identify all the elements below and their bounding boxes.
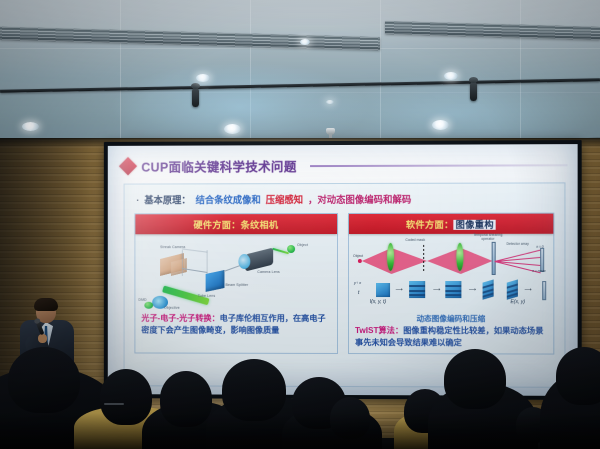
label-dmd: DMD [138, 298, 146, 302]
bullet-part1: 结合条纹成像和 [196, 192, 261, 206]
audience-glasses-icon [104, 403, 124, 405]
audience-head-1 [8, 347, 80, 413]
foreground-shadow [0, 413, 600, 449]
arrow-1-icon: ⟶ [395, 288, 402, 293]
shearing-operator-icon [492, 242, 496, 275]
panel-software-header: 软件方面：图像重构 [349, 214, 553, 234]
photo-scene: 热烈欢迎各位专家莅临指导 CUP面临关键科学技术问题 · 基本原理： 结合条纹成… [0, 0, 600, 449]
label-coded-mask: Coded mask [405, 238, 425, 242]
downlight-1 [196, 74, 210, 82]
sprinkler-head [326, 128, 335, 135]
formula-n0: n = 0 [536, 245, 543, 249]
slide-title: CUP面临关键科学技术问题 [141, 156, 296, 175]
spotlight-2 [470, 82, 477, 101]
label-object: Object [297, 243, 308, 247]
bullet-part2: ，对动态图像编码和解码 [308, 192, 411, 206]
audience-head-10 [556, 347, 600, 405]
formula-ixyt: I(x, y, t) [370, 299, 386, 305]
final-image-plate-icon [542, 281, 546, 300]
label-beam-splitter: Beam Splitter [225, 283, 248, 287]
sheared-cube-1-icon [483, 279, 494, 299]
camera-lens-face-icon [238, 254, 250, 269]
spotlight-1 [192, 88, 199, 107]
arrow-3-icon: ⟶ [469, 288, 476, 293]
figure-reconstruction-pipeline: Object Coded mask Temporal shearing oper… [352, 236, 550, 312]
downlight-7 [326, 100, 334, 104]
label-objective: Objective [164, 306, 180, 310]
coded-mask-icon [423, 245, 424, 271]
panel-hardware-header-main: 条纹相机 [241, 220, 279, 230]
diamond-bullet-icon [119, 157, 137, 175]
panel-row: 硬件方面：条纹相机 [132, 213, 556, 355]
arrow-4-icon: ⟶ [524, 288, 531, 293]
slide-title-row: CUP面临关键科学技术问题 [122, 155, 568, 175]
title-underline [310, 164, 568, 167]
sheared-cube-2-icon [506, 279, 517, 299]
software-caption-key: TwIST算法： [355, 326, 403, 335]
panel-software-header-main: 图像重构 [454, 220, 496, 230]
panel-hardware-header: 硬件方面：条纹相机 [135, 214, 337, 234]
downlight-2 [444, 72, 458, 80]
label-streak-camera: Streak Camera [160, 245, 185, 249]
formula-exy: E(x, y) [510, 299, 525, 305]
label-shearing-operator: Temporal shearing operator [467, 234, 509, 242]
datacube-2-icon [409, 281, 425, 298]
formula-nmax: n = nmax [532, 269, 545, 273]
panel-software-header-prefix: 软件方面： [406, 220, 454, 230]
formula-axes: y↑ x [354, 280, 361, 285]
label-object-r: Object [353, 254, 363, 258]
optical-path-svg [352, 240, 550, 282]
label-detector-array: Detector array [506, 242, 528, 246]
panel-hardware-header-prefix: 硬件方面： [194, 220, 241, 230]
audience [0, 339, 600, 449]
downlight-3 [22, 122, 39, 131]
downlight-6 [300, 39, 310, 45]
presenter-hair [34, 298, 58, 311]
slide-bullet: · 基本原理： 结合条纹成像和 压缩感知 ，对动态图像编码和解码 [136, 191, 556, 206]
splitter-link [224, 265, 240, 272]
downlight-4 [224, 124, 241, 134]
formula-t-axis: t [358, 290, 359, 296]
panel-software: 软件方面：图像重构 [348, 213, 554, 355]
bullet-dot-icon: · [136, 195, 139, 205]
datacube-3-icon [445, 281, 461, 298]
label-camera-lens: Camera Lens [257, 270, 280, 274]
audience-head-8 [444, 349, 506, 409]
panel-hardware: 硬件方面：条纹相机 [134, 213, 338, 354]
audience-head-4 [222, 359, 286, 421]
figure-streak-camera: Streak Camera Object Camera Lens Beam Sp… [138, 236, 334, 312]
bullet-lead: 基本原理： [144, 192, 190, 206]
hardware-caption-key: 光子-电子-光子转换： [141, 314, 219, 323]
figure-caption: 动态图像编码和压缩 [349, 313, 553, 324]
label-tube-lens: Tube Lens [198, 294, 216, 298]
arrow-2-icon: ⟶ [433, 288, 440, 293]
downlight-5 [432, 120, 449, 130]
datacube-1-icon [376, 283, 390, 297]
bullet-highlight: 压缩感知 [266, 192, 303, 206]
panel-hardware-caption: 光子-电子-光子转换：电子库伦相互作用，在高电子密度下会产生图像畸变，影响图像质… [135, 312, 337, 337]
ceiling: 热烈欢迎各位专家莅临指导 [0, 0, 600, 150]
streak-camera-body2-icon [171, 258, 187, 276]
beam-splitter-icon [206, 270, 225, 292]
dmd-icon [144, 302, 153, 309]
